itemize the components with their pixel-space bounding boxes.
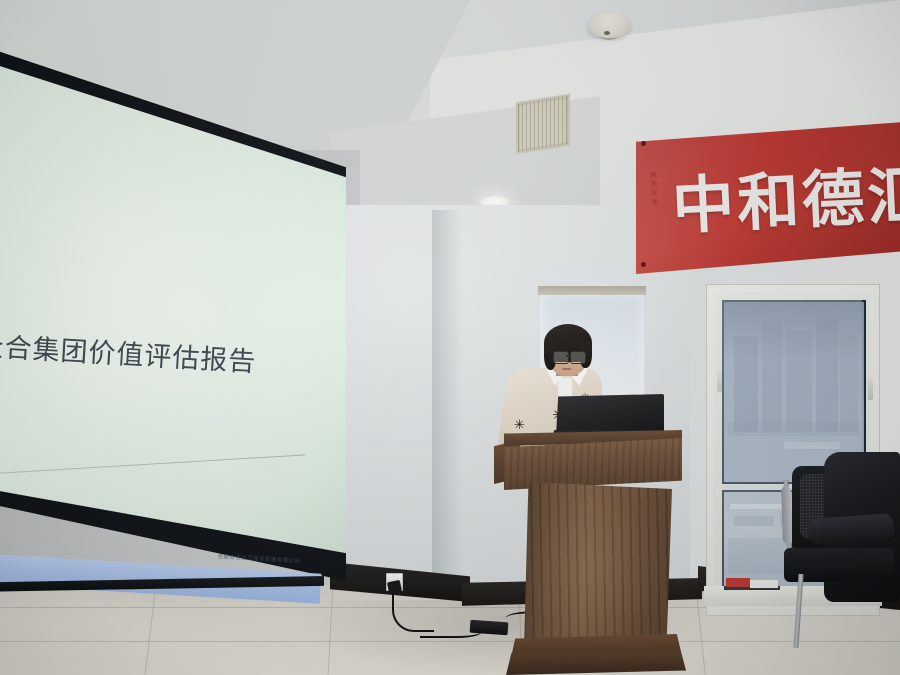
projection-screen: 众合集团价值评估报告 合肥众合达卫技术发展有限公司: [0, 36, 346, 596]
sill-item-white-box: [750, 580, 778, 588]
power-adapter-brick: [470, 620, 509, 636]
presentation-room-photo: 热烈欢迎 中和德汇 ✳ ✳ ✳ 众合集团价值评估报告 合肥众合达卫技术发展有限公…: [0, 0, 900, 675]
window-shadow: [722, 300, 862, 360]
banner-side-text: 热烈欢迎: [648, 172, 659, 208]
eyeglasses-lens-left: [553, 351, 569, 364]
laptop-screen-back[interactable]: [556, 394, 664, 436]
presenter-mouth: [562, 368, 571, 370]
banner-eyelet: [641, 262, 646, 267]
window-latch[interactable]: [868, 378, 873, 400]
alcove-header: [538, 286, 646, 295]
banner-text: 中和德汇: [670, 144, 900, 246]
window-handle[interactable]: [717, 368, 722, 392]
smoke-detector-led: [604, 31, 610, 35]
banner-eyelet: [641, 141, 646, 146]
air-vent-grille-icon: [516, 94, 570, 155]
sweater-floral-motif: ✳: [514, 418, 525, 431]
podium-wood-grain: [524, 482, 672, 658]
eyeglasses-lens-right: [570, 351, 586, 364]
sill-item-red-box: [726, 578, 750, 587]
eyeglasses-bridge: [566, 355, 571, 357]
